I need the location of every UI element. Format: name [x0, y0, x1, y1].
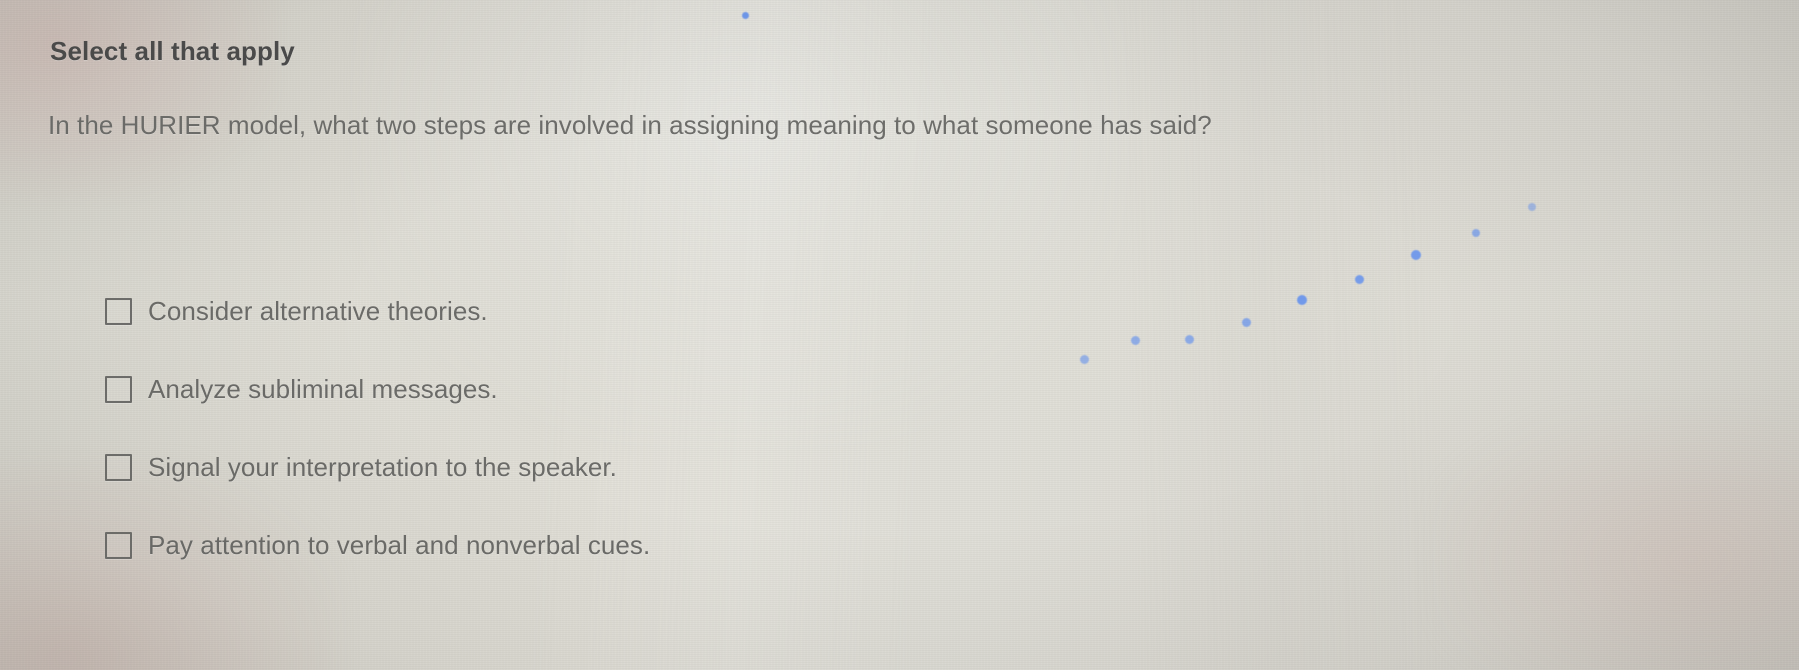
quiz-screen: Select all that apply In the HURIER mode…: [0, 0, 1799, 670]
background-vignette: [0, 0, 1799, 670]
